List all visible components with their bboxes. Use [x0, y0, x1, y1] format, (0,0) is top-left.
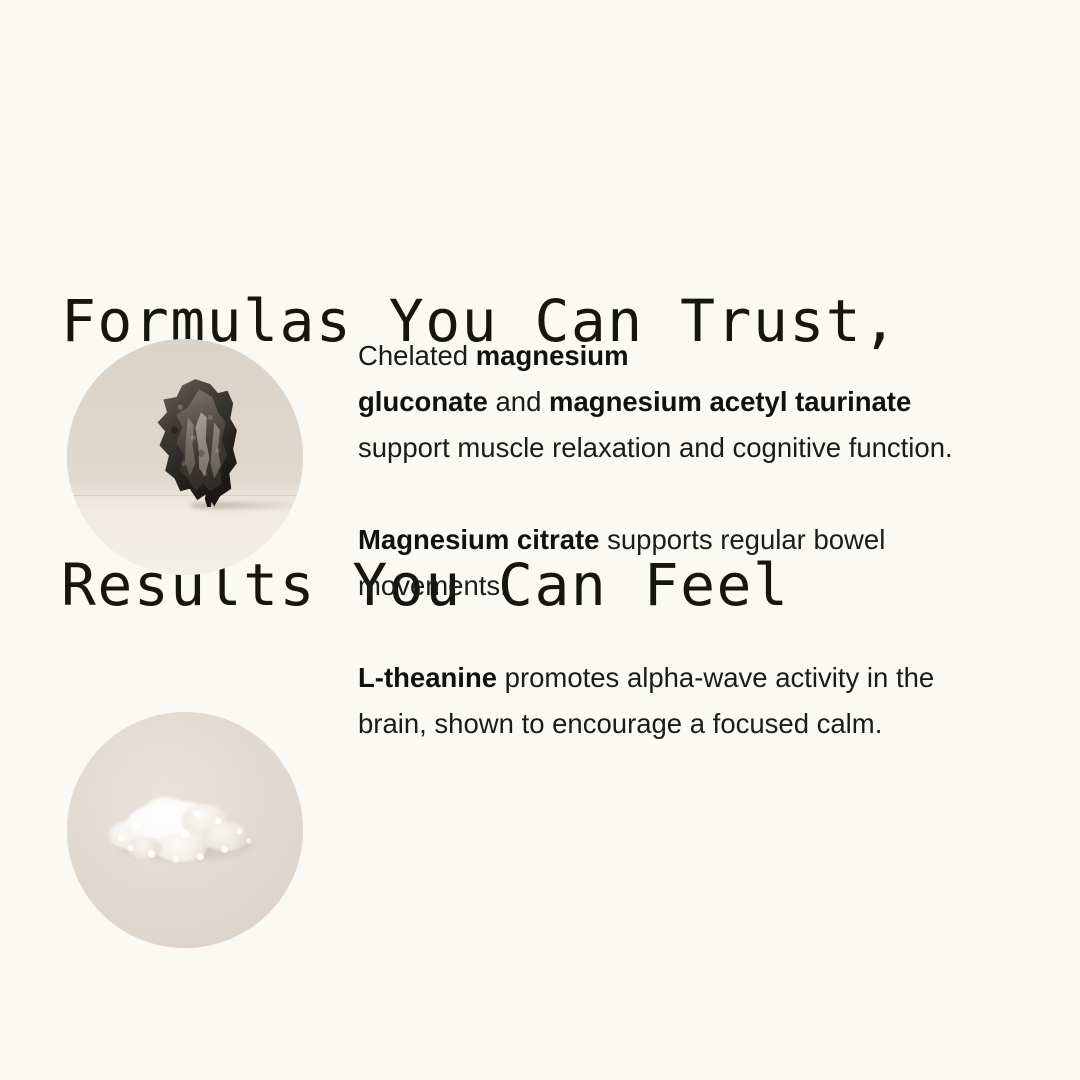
marketing-card: Formulas You Can Trust, Results You Can …	[0, 0, 1080, 1080]
mineral-texture-grain	[152, 379, 246, 506]
l-theanine-powder-photo	[67, 712, 303, 948]
powder-heap	[109, 797, 260, 868]
magnesium-mineral-photo	[67, 339, 303, 575]
benefit-term: L-theanine	[358, 662, 497, 693]
benefits-list: Chelated magnesium gluconate and magnesi…	[358, 333, 983, 747]
benefit-item: Magnesium citrate supports regular bowel…	[358, 517, 983, 609]
powder-granules	[109, 797, 260, 868]
magnesium-mineral-chunk	[152, 379, 246, 506]
benefit-term: magnesium	[476, 340, 629, 371]
benefit-term: magnesium acetyl taurinate	[549, 386, 911, 417]
benefit-item: L-theanine promotes alpha-wave activity …	[358, 655, 983, 747]
benefit-item: Chelated magnesium gluconate and magnesi…	[358, 333, 983, 471]
benefit-term: gluconate	[358, 386, 488, 417]
benefit-term: Magnesium citrate	[358, 524, 599, 555]
